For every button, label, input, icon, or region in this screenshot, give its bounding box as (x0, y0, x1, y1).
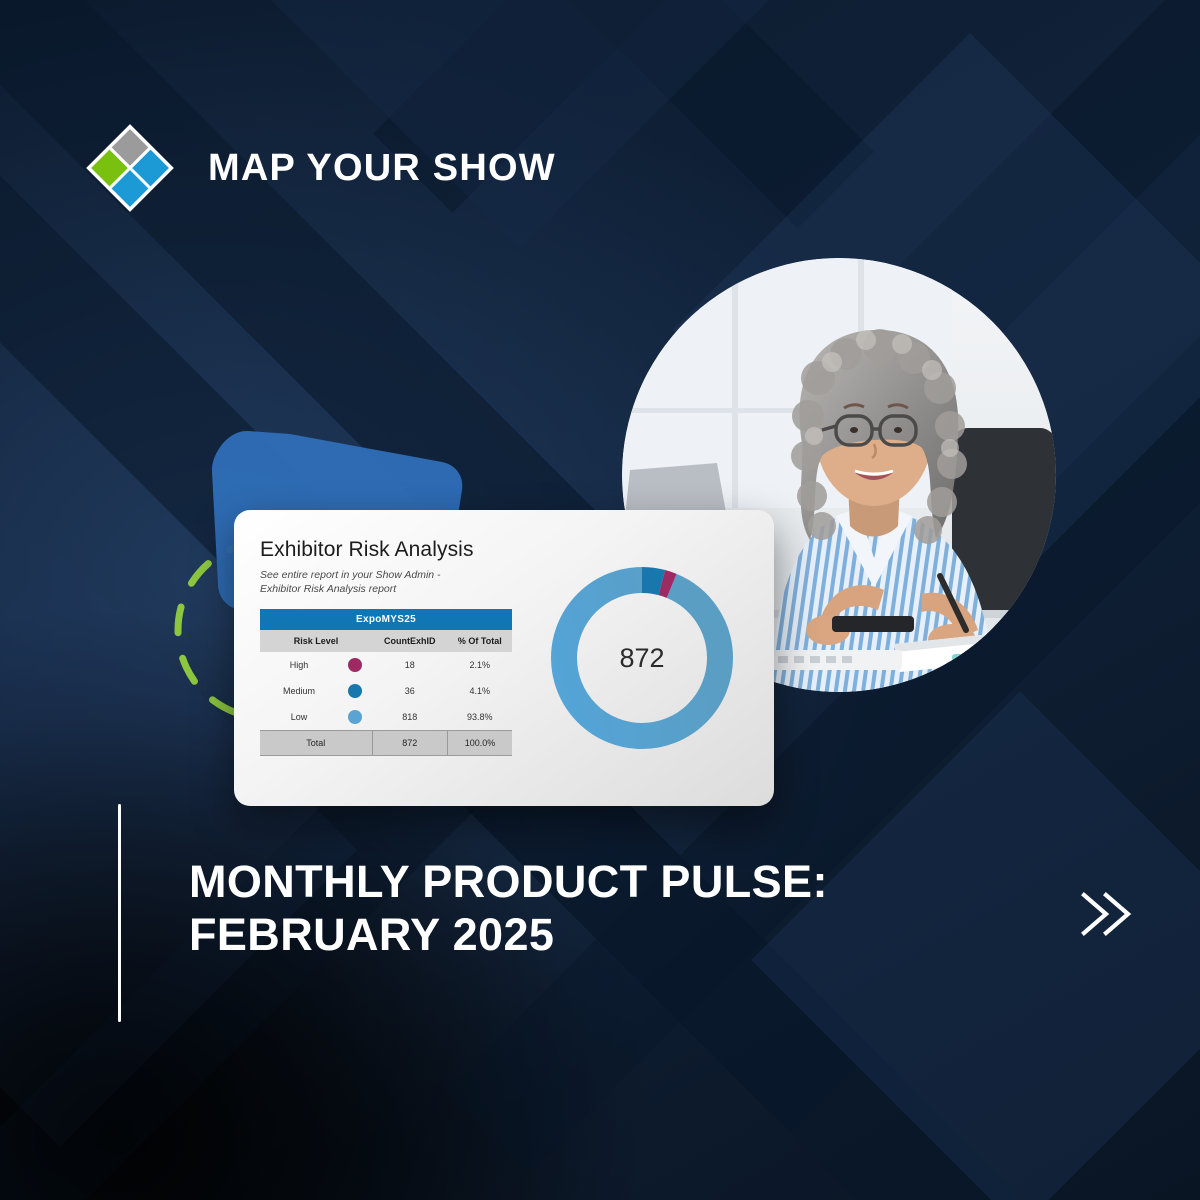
risk-donut-chart: 872 (536, 552, 748, 764)
count-medium: 36 (372, 678, 448, 704)
col-count-exhid: CountExhID (372, 630, 448, 652)
risk-dot-low-icon (348, 710, 362, 724)
risk-dot-medium-cell (338, 678, 372, 704)
total-pct: 100.0% (448, 731, 512, 756)
risk-level-medium: Medium (260, 678, 338, 704)
card-subtitle: See entire report in your Show Admin - E… (260, 568, 520, 596)
risk-level-high: High (260, 652, 338, 678)
total-count: 872 (372, 731, 448, 756)
card-title: Exhibitor Risk Analysis (260, 538, 520, 562)
donut-center-value: 872 (536, 552, 748, 764)
brand-lockup: MAP YOUR SHOW (80, 118, 556, 218)
exhibitor-risk-analysis-card[interactable]: Exhibitor Risk Analysis See entire repor… (234, 510, 774, 806)
card-subtitle-line-2: Exhibitor Risk Analysis report (260, 582, 520, 596)
col-pct-of-total: % Of Total (448, 630, 512, 652)
col-risk-level: Risk Level (260, 630, 372, 652)
table-band-row: ExpoMYS25 (260, 609, 512, 630)
double-chevron-right-icon[interactable] (1076, 885, 1136, 943)
total-label: Total (260, 731, 372, 756)
risk-dot-high-icon (348, 658, 362, 672)
brand-name: MAP YOUR SHOW (208, 147, 556, 190)
card-subtitle-line-1: See entire report in your Show Admin - (260, 568, 520, 582)
risk-table: ExpoMYS25 Risk Level CountExhID % Of Tot… (260, 609, 512, 756)
table-row: Medium 36 4.1% (260, 678, 512, 704)
table-row: High 18 2.1% (260, 652, 512, 678)
risk-dot-high-cell (338, 652, 372, 678)
risk-dot-medium-icon (348, 684, 362, 698)
mys-diamond-logo-icon (80, 118, 180, 218)
table-row: Low 818 93.8% (260, 704, 512, 731)
pct-low: 93.8% (448, 704, 512, 731)
poster-canvas: MAP YOUR SHOW (0, 0, 1200, 1200)
pct-high: 2.1% (448, 652, 512, 678)
risk-level-low: Low (260, 704, 338, 731)
headline-accent-rule (118, 804, 121, 1022)
table-header-row: Risk Level CountExhID % Of Total (260, 630, 512, 652)
count-high: 18 (372, 652, 448, 678)
risk-dot-low-cell (338, 704, 372, 731)
table-band-label: ExpoMYS25 (260, 609, 512, 630)
pct-medium: 4.1% (448, 678, 512, 704)
count-low: 818 (372, 704, 448, 731)
page-title: MONTHLY PRODUCT PULSE: FEBRUARY 2025 (189, 856, 828, 961)
table-total-row: Total 872 100.0% (260, 731, 512, 756)
